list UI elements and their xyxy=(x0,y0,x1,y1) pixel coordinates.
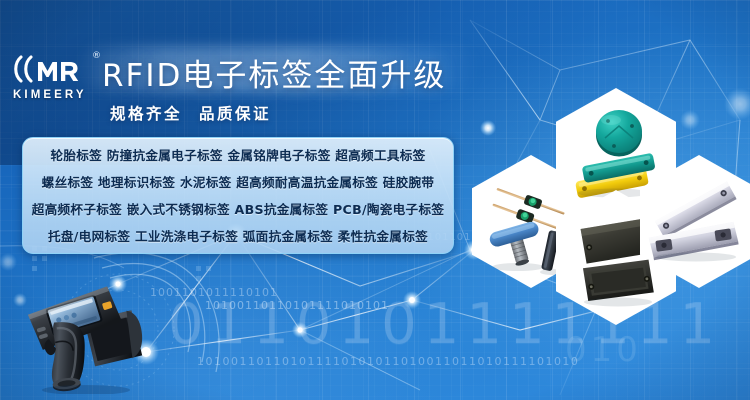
binary-line-6: 010 xyxy=(565,330,642,370)
rfid-promo-banner: 0110101111111 1001101011110101 101001101… xyxy=(0,0,750,400)
tag-row: 托盘/电网标签 工业洗涤电子标签 弧面抗金属标签 柔性抗金属标签 xyxy=(23,223,453,250)
binary-line-1: 1001101011110101 xyxy=(150,286,278,299)
tag-row: 螺丝标签 地理标识标签 水泥标签 超高频耐高温抗金属标签 硅胶腕带 xyxy=(23,169,453,196)
page-title: RFID电子标签全面升级 xyxy=(102,50,446,95)
registered-trademark-icon: ® xyxy=(92,51,101,61)
subtitle-left: 规格齐全 xyxy=(110,105,182,123)
subtitle-right: 品质保证 xyxy=(199,105,271,123)
binary-line-3: 1010011011010111101010110100110110101111… xyxy=(197,355,579,368)
product-tag-list-panel: 轮胎标签 防撞抗金属电子标签 金属铭牌电子标签 超高频工具标签 螺丝标签 地理标… xyxy=(22,137,454,254)
tag-row: 超高频杯子标签 嵌入式不锈钢标签 ABS抗金属标签 PCB/陶瓷电子标签 xyxy=(23,196,453,223)
kimeery-logo-icon: ® xyxy=(13,52,99,86)
handheld-rfid-reader-image xyxy=(24,276,164,394)
handheld-rfid-reader[interactable] xyxy=(24,276,164,394)
brand-logo[interactable]: ® KIMEERY xyxy=(13,52,99,110)
tag-row: 轮胎标签 防撞抗金属电子标签 金属铭牌电子标签 超高频工具标签 xyxy=(23,142,453,169)
page-subtitle: 规格齐全品质保证 xyxy=(110,102,271,124)
binary-line-2: 10100110110101111010101 xyxy=(205,299,389,312)
brand-wordmark: KIMEERY xyxy=(13,89,99,101)
